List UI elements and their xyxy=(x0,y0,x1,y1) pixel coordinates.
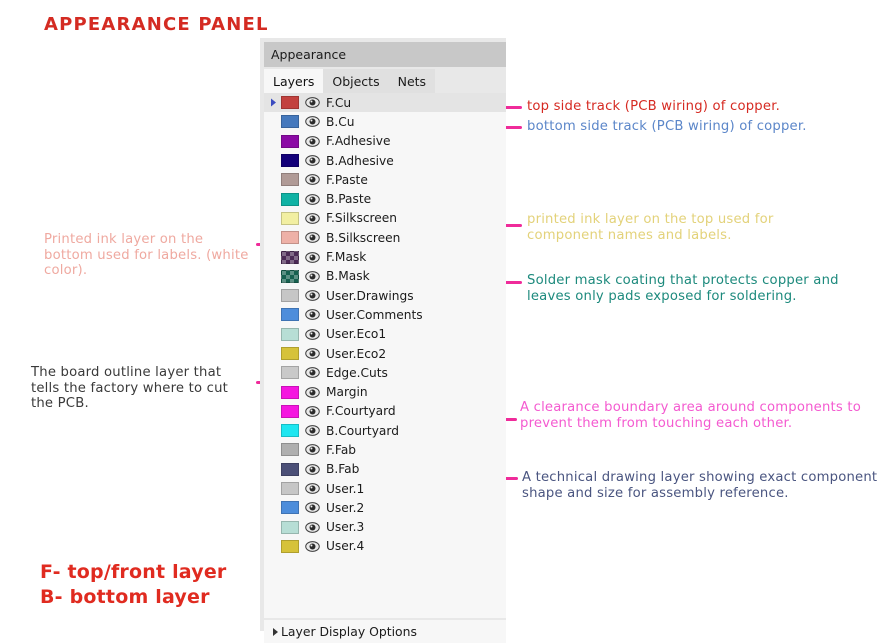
layer-row-f-silkscreen[interactable]: F.Silkscreen xyxy=(264,209,506,228)
screenshot-canvas: APPEARANCE PANEL F- top/front layer B- b… xyxy=(0,0,886,631)
layer-name: User.Drawings xyxy=(326,289,414,303)
layer-display-options-expander[interactable]: Layer Display Options xyxy=(264,620,506,643)
visibility-eye-icon[interactable] xyxy=(304,306,321,323)
visibility-eye-icon[interactable] xyxy=(304,152,321,169)
layer-row-f-cu[interactable]: F.Cu xyxy=(264,93,506,112)
caret-placeholder xyxy=(268,248,279,267)
layer-name: F.Adhesive xyxy=(326,134,390,148)
panel-tabstrip: LayersObjectsNets xyxy=(264,67,506,93)
caret-placeholder xyxy=(268,209,279,228)
caret-placeholder xyxy=(268,440,279,459)
layer-color-swatch[interactable] xyxy=(281,193,299,206)
layer-color-swatch[interactable] xyxy=(281,231,299,244)
layer-row-b-cu[interactable]: B.Cu xyxy=(264,112,506,131)
layer-row-user-4[interactable]: User.4 xyxy=(264,537,506,556)
layer-row-user-3[interactable]: User.3 xyxy=(264,518,506,537)
layer-name: B.Silkscreen xyxy=(326,231,400,245)
annotation-title: APPEARANCE PANEL xyxy=(44,14,269,35)
caret-right-icon[interactable] xyxy=(268,93,279,112)
layer-color-swatch[interactable] xyxy=(281,251,299,264)
layer-color-swatch[interactable] xyxy=(281,135,299,148)
layer-row-user-comments[interactable]: User.Comments xyxy=(264,305,506,324)
caret-placeholder xyxy=(268,363,279,382)
layer-name: User.1 xyxy=(326,482,364,496)
layer-name: User.4 xyxy=(326,539,364,553)
tab-label: Nets xyxy=(398,74,426,89)
layers-list[interactable]: F.CuB.CuF.AdhesiveB.AdhesiveF.PasteB.Pas… xyxy=(264,93,506,618)
visibility-eye-icon[interactable] xyxy=(304,94,321,111)
visibility-eye-icon[interactable] xyxy=(304,287,321,304)
panel-title: Appearance xyxy=(271,47,346,62)
layer-color-swatch[interactable] xyxy=(281,270,299,283)
triangle-right-icon xyxy=(272,627,280,637)
visibility-eye-icon[interactable] xyxy=(304,345,321,362)
layer-row-b-fab[interactable]: B.Fab xyxy=(264,460,506,479)
annotation-b-fab: A technical drawing layer showing exact … xyxy=(522,470,877,501)
layer-color-swatch[interactable] xyxy=(281,443,299,456)
caret-placeholder xyxy=(268,344,279,363)
caret-placeholder xyxy=(268,132,279,151)
visibility-eye-icon[interactable] xyxy=(304,384,321,401)
layer-row-user-1[interactable]: User.1 xyxy=(264,479,506,498)
layer-color-swatch[interactable] xyxy=(281,501,299,514)
layer-name: B.Courtyard xyxy=(326,424,399,438)
visibility-eye-icon[interactable] xyxy=(304,268,321,285)
layer-color-swatch[interactable] xyxy=(281,96,299,109)
caret-placeholder xyxy=(268,479,279,498)
visibility-eye-icon[interactable] xyxy=(304,480,321,497)
visibility-eye-icon[interactable] xyxy=(304,364,321,381)
layer-color-swatch[interactable] xyxy=(281,521,299,534)
layer-row-f-fab[interactable]: F.Fab xyxy=(264,440,506,459)
annotation-f-silkscreen: printed ink layer on the top used for co… xyxy=(527,212,773,243)
layer-name: Edge.Cuts xyxy=(326,366,388,380)
caret-placeholder xyxy=(268,325,279,344)
annotation-f-cu: top side track (PCB wiring) of copper. xyxy=(527,99,780,115)
tab-label: Objects xyxy=(332,74,379,89)
layer-name: User.3 xyxy=(326,520,364,534)
panel-header: Appearance xyxy=(264,42,506,67)
layer-row-f-mask[interactable]: F.Mask xyxy=(264,247,506,266)
layer-color-swatch[interactable] xyxy=(281,347,299,360)
annotation-b-silkscreen: Printed ink layer on the bottom used for… xyxy=(44,232,249,279)
caret-placeholder xyxy=(268,537,279,556)
layer-row-user-drawings[interactable]: User.Drawings xyxy=(264,286,506,305)
caret-placeholder xyxy=(268,421,279,440)
layer-color-swatch[interactable] xyxy=(281,115,299,128)
layer-row-user-eco2[interactable]: User.Eco2 xyxy=(264,344,506,363)
visibility-eye-icon[interactable] xyxy=(304,191,321,208)
layer-name: B.Paste xyxy=(326,192,371,206)
layer-row-b-adhesive[interactable]: B.Adhesive xyxy=(264,151,506,170)
caret-placeholder xyxy=(268,402,279,421)
caret-placeholder xyxy=(268,170,279,189)
layer-row-user-eco1[interactable]: User.Eco1 xyxy=(264,325,506,344)
layer-row-b-paste[interactable]: B.Paste xyxy=(264,189,506,208)
visibility-eye-icon[interactable] xyxy=(304,461,321,478)
layer-row-b-courtyard[interactable]: B.Courtyard xyxy=(264,421,506,440)
layer-color-swatch[interactable] xyxy=(281,482,299,495)
layer-row-b-mask[interactable]: B.Mask xyxy=(264,267,506,286)
visibility-eye-icon[interactable] xyxy=(304,229,321,246)
layer-name: F.Mask xyxy=(326,250,366,264)
layer-name: B.Fab xyxy=(326,462,359,476)
layer-name: User.Eco1 xyxy=(326,327,386,341)
caret-placeholder xyxy=(268,383,279,402)
layer-name: B.Cu xyxy=(326,115,354,129)
layer-row-f-paste[interactable]: F.Paste xyxy=(264,170,506,189)
caret-placeholder xyxy=(268,305,279,324)
visibility-eye-icon[interactable] xyxy=(304,210,321,227)
visibility-eye-icon[interactable] xyxy=(304,441,321,458)
annotation-edge-cuts: The board outline layer that tells the f… xyxy=(31,365,228,412)
layer-color-swatch[interactable] xyxy=(281,328,299,341)
layer-name: F.Paste xyxy=(326,173,368,187)
tab-layers[interactable]: Layers xyxy=(264,69,323,93)
layer-color-swatch[interactable] xyxy=(281,154,299,167)
layer-name: Margin xyxy=(326,385,368,399)
layer-color-swatch[interactable] xyxy=(281,366,299,379)
visibility-eye-icon[interactable] xyxy=(304,113,321,130)
caret-placeholder xyxy=(268,267,279,286)
layer-name: B.Adhesive xyxy=(326,154,394,168)
layer-row-f-courtyard[interactable]: F.Courtyard xyxy=(264,402,506,421)
layer-color-swatch[interactable] xyxy=(281,289,299,302)
caret-placeholder xyxy=(268,498,279,517)
annotation-b-cu: bottom side track (PCB wiring) of copper… xyxy=(527,119,807,135)
caret-placeholder xyxy=(268,460,279,479)
visibility-eye-icon[interactable] xyxy=(304,171,321,188)
caret-placeholder xyxy=(268,518,279,537)
visibility-eye-icon[interactable] xyxy=(304,249,321,266)
annotation-f-courtyard: A clearance boundary area around compone… xyxy=(520,400,861,431)
layer-color-swatch[interactable] xyxy=(281,405,299,418)
layer-row-f-adhesive[interactable]: F.Adhesive xyxy=(264,132,506,151)
visibility-eye-icon[interactable] xyxy=(304,133,321,150)
layer-color-swatch[interactable] xyxy=(281,540,299,553)
appearance-panel: Appearance LayersObjectsNets F.CuB.CuF.A… xyxy=(260,38,506,631)
layer-name: B.Mask xyxy=(326,269,370,283)
tab-label: Layers xyxy=(273,74,314,89)
layer-name: F.Cu xyxy=(326,96,351,110)
visibility-eye-icon[interactable] xyxy=(304,519,321,536)
tab-nets[interactable]: Nets xyxy=(389,69,435,93)
visibility-eye-icon[interactable] xyxy=(304,538,321,555)
layer-name: User.2 xyxy=(326,501,364,515)
layer-row-b-silkscreen[interactable]: B.Silkscreen xyxy=(264,228,506,247)
layer-color-swatch[interactable] xyxy=(281,308,299,321)
layer-name: F.Courtyard xyxy=(326,404,396,418)
layer-row-user-2[interactable]: User.2 xyxy=(264,498,506,517)
layer-display-options-label: Layer Display Options xyxy=(281,624,417,639)
visibility-eye-icon[interactable] xyxy=(304,422,321,439)
annotation-legend: F- top/front layer B- bottom layer xyxy=(40,560,226,610)
layer-name: F.Fab xyxy=(326,443,356,457)
caret-placeholder xyxy=(268,228,279,247)
caret-placeholder xyxy=(268,286,279,305)
layer-row-margin[interactable]: Margin xyxy=(264,382,506,401)
visibility-eye-icon[interactable] xyxy=(304,326,321,343)
layer-color-swatch[interactable] xyxy=(281,463,299,476)
layer-name: User.Comments xyxy=(326,308,423,322)
layer-name: User.Eco2 xyxy=(326,347,386,361)
visibility-eye-icon[interactable] xyxy=(304,403,321,420)
layer-color-swatch[interactable] xyxy=(281,173,299,186)
annotation-b-mask: Solder mask coating that protects copper… xyxy=(527,273,839,304)
layer-row-edge-cuts[interactable]: Edge.Cuts xyxy=(264,363,506,382)
visibility-eye-icon[interactable] xyxy=(304,499,321,516)
layer-name: F.Silkscreen xyxy=(326,211,397,225)
layer-color-swatch[interactable] xyxy=(281,424,299,437)
layer-color-swatch[interactable] xyxy=(281,386,299,399)
caret-placeholder xyxy=(268,151,279,170)
caret-placeholder xyxy=(268,112,279,131)
caret-placeholder xyxy=(268,190,279,209)
layer-color-swatch[interactable] xyxy=(281,212,299,225)
tab-objects[interactable]: Objects xyxy=(323,69,388,93)
